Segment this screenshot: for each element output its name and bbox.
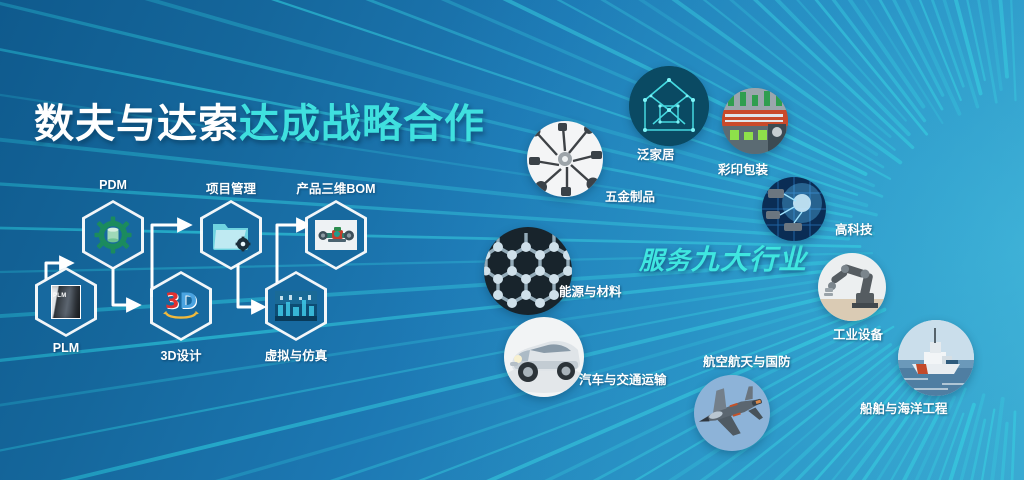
industry-bubble-marine[interactable] bbox=[898, 320, 974, 396]
plm-flow-diagram: PLM bbox=[0, 175, 420, 375]
flow-node-simulation[interactable]: 虚拟与仿真 bbox=[265, 271, 327, 341]
center-heading-small: 服务 bbox=[639, 247, 691, 275]
robot-arm-icon bbox=[818, 253, 886, 321]
flow-node-3d-design[interactable]: 3D 3D设计 bbox=[150, 271, 212, 341]
industry-bubble-industrial[interactable] bbox=[818, 253, 886, 321]
center-heading: 服务九大行业 bbox=[639, 238, 807, 278]
banner-stage: 数夫与达索达成战略合作 bbox=[0, 0, 1024, 480]
naval-ship-icon bbox=[898, 320, 974, 396]
title-white-part: 数夫与达索 bbox=[34, 102, 239, 146]
center-heading-large: 九大行业 bbox=[691, 244, 807, 275]
flow-node-label-bom: 产品三维BOM bbox=[256, 178, 416, 197]
industry-bubble-aerospace[interactable] bbox=[694, 375, 770, 451]
flow-node-bom[interactable]: 产品三维BOM bbox=[305, 200, 367, 270]
flow-node-plm[interactable]: PLM bbox=[35, 267, 97, 337]
title-cyan-part: 达成战略合作 bbox=[239, 102, 485, 146]
industry-bubble-furniture[interactable] bbox=[629, 66, 709, 146]
flow-node-project-management[interactable]: 项目管理 bbox=[200, 200, 262, 270]
banner-title: 数夫与达索达成战略合作 bbox=[34, 91, 485, 149]
smart-home-icon bbox=[629, 66, 709, 146]
industry-label-furniture: 泛家居 bbox=[637, 144, 675, 163]
hardware-tools-icon bbox=[527, 121, 603, 197]
factory-photo-icon bbox=[265, 271, 327, 341]
industry-label-industrial: 工业设备 bbox=[833, 324, 883, 343]
suv-car-icon bbox=[504, 317, 584, 397]
industry-label-aerospace: 航空航天与国防 bbox=[703, 351, 791, 370]
printing-press-icon bbox=[722, 88, 788, 154]
flow-node-label-simulation: 虚拟与仿真 bbox=[216, 345, 376, 364]
gear-database-icon bbox=[82, 200, 144, 270]
industry-bubble-hardware[interactable] bbox=[527, 121, 603, 197]
industry-bubble-automotive[interactable] bbox=[504, 317, 584, 397]
industry-bubble-hightech[interactable] bbox=[762, 177, 826, 241]
cad-assembly-icon bbox=[305, 200, 367, 270]
flow-node-pdm[interactable]: PDM bbox=[82, 200, 144, 270]
fighter-jet-icon bbox=[694, 375, 770, 451]
folder-gear-icon bbox=[200, 200, 262, 270]
industry-label-hightech: 高科技 bbox=[835, 219, 873, 238]
industry-label-hardware: 五金制品 bbox=[605, 186, 655, 205]
server-tower-icon bbox=[35, 267, 97, 337]
industry-label-printing: 彩印包装 bbox=[718, 159, 768, 178]
circuit-tech-icon bbox=[762, 177, 826, 241]
industry-bubble-printing[interactable] bbox=[722, 88, 788, 154]
industry-label-automotive: 汽车与交通运输 bbox=[579, 369, 667, 388]
3d-rotate-icon: 3D bbox=[150, 271, 212, 341]
industry-bubble-energy[interactable] bbox=[484, 227, 572, 315]
industry-label-marine: 船舶与海洋工程 bbox=[860, 398, 948, 417]
industry-label-energy: 能源与材料 bbox=[559, 281, 622, 300]
graphene-lattice-icon bbox=[484, 227, 572, 315]
